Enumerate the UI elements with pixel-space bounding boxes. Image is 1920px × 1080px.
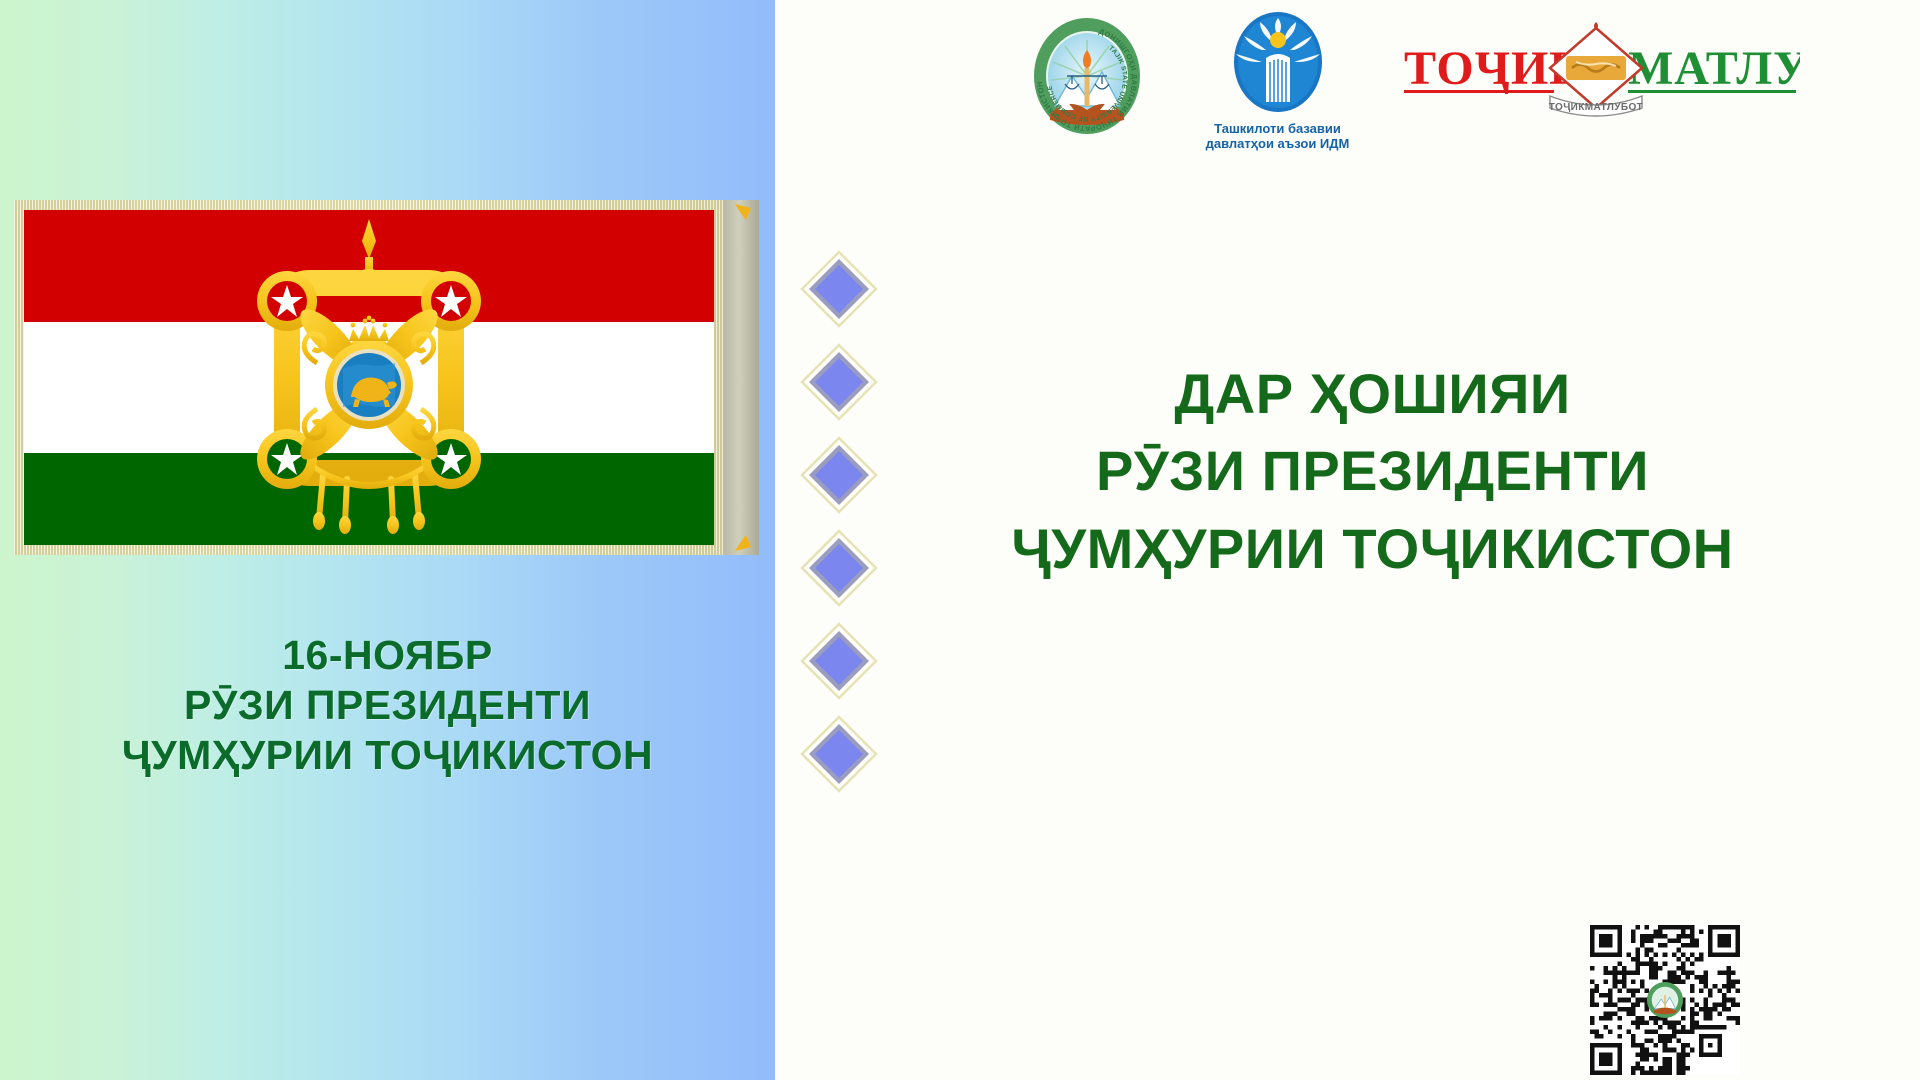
tojikmatlubot-wordmark-icon: ТОҶИК МАТЛУБОТ ТОҶИКМАТЛУБОТ [1400, 10, 1800, 125]
flag-pole [723, 200, 759, 555]
diamond-decoration [800, 529, 878, 607]
left-caption-line-1: 16-НОЯБР [0, 630, 775, 680]
diamond-decoration [800, 715, 878, 793]
tajik-state-university-of-commerce-logo: ДОНИШГОҲИ ДАВЛАТИИ ТИҶОРАТИ ТОҶИКИСТОН T… [1020, 10, 1155, 145]
main-title: ДАР ҲОШИЯИ РӮЗИ ПРЕЗИДЕНТИ ҶУМҲУРИИ ТОҶИ… [825, 355, 1920, 587]
main-title-line-3: ҶУМҲУРИИ ТОҶИКИСТОН [825, 510, 1920, 587]
qr-code[interactable] [1590, 925, 1740, 1075]
cis-caption-line-1: Ташкилоти базавии [1205, 122, 1350, 137]
right-panel: ДОНИШГОҲИ ДАВЛАТИИ ТИҶОРАТИ ТОҶИКИСТОН T… [775, 0, 1920, 1080]
left-caption-line-2: РӮЗИ ПРЕЗИДЕНТИ [0, 680, 775, 730]
diamond-decoration [800, 343, 878, 421]
diamond-decoration-strip [800, 250, 880, 810]
cis-basic-organization-logo: Ташкилоти базавии давлатҳои аъзои ИДМ [1205, 10, 1350, 152]
diamond-decoration [800, 436, 878, 514]
presidential-emblem-icon [219, 213, 519, 543]
flag-field [24, 210, 714, 545]
cis-caption: Ташкилоти базавии давлатҳои аъзои ИДМ [1205, 122, 1350, 152]
svg-text:ТОҶИКМАТЛУБОТ: ТОҶИКМАТЛУБОТ [1549, 102, 1643, 113]
diamond-decoration [800, 622, 878, 700]
flag-tassel-bottom-icon [733, 533, 755, 553]
flag-of-tajikistan-presidential-standard [14, 200, 759, 555]
logo-row: ДОНИШГОҲИ ДАВЛАТИИ ТИҶОРАТИ ТОҶИКИСТОН T… [1020, 10, 1800, 140]
qr-center-university-logo-icon [1646, 981, 1684, 1019]
left-caption: 16-НОЯБР РӮЗИ ПРЕЗИДЕНТИ ҶУМҲУРИИ ТОҶИКИ… [0, 630, 775, 780]
university-seal-icon: ДОНИШГОҲИ ДАВЛАТИИ ТИҶОРАТИ ТОҶИКИСТОН T… [1020, 10, 1155, 140]
tojikmatlubot-logo: ТОҶИК МАТЛУБОТ ТОҶИКМАТЛУБОТ [1400, 10, 1800, 130]
diamond-decoration [800, 250, 878, 328]
cis-caption-line-2: давлатҳои аъзои ИДМ [1205, 137, 1350, 152]
cis-emblem-icon [1228, 10, 1328, 115]
left-caption-line-3: ҶУМҲУРИИ ТОҶИКИСТОН [0, 730, 775, 780]
main-title-line-2: РӮЗИ ПРЕЗИДЕНТИ [825, 432, 1920, 509]
main-title-line-1: ДАР ҲОШИЯИ [825, 355, 1920, 432]
left-panel: 16-НОЯБР РӮЗИ ПРЕЗИДЕНТИ ҶУМҲУРИИ ТОҶИКИ… [0, 0, 775, 1080]
svg-text:МАТЛУБОТ: МАТЛУБОТ [1628, 42, 1800, 95]
flag-tassel-top-icon [733, 202, 755, 222]
slide-canvas: 16-НОЯБР РӮЗИ ПРЕЗИДЕНТИ ҶУМҲУРИИ ТОҶИКИ… [0, 0, 1920, 1080]
